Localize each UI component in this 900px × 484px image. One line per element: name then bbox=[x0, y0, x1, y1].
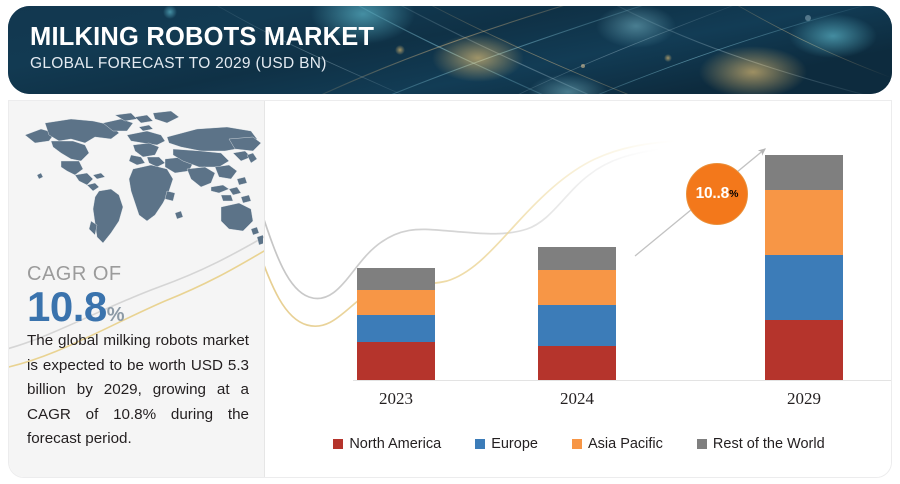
stacked-bar-2023 bbox=[357, 268, 435, 380]
legend-label: Rest of the World bbox=[713, 436, 825, 452]
segment-rest-of-the-world bbox=[538, 247, 616, 270]
summary-panel: CAGR OF 10.8% The global milking robots … bbox=[9, 101, 264, 478]
stacked-bar-2029 bbox=[765, 155, 843, 380]
segment-rest-of-the-world bbox=[765, 155, 843, 190]
x-axis-label-2029: 2029 bbox=[754, 389, 854, 409]
cagr-badge-percent: % bbox=[729, 188, 738, 200]
segment-europe bbox=[538, 305, 616, 346]
chart-legend: North America Europe Asia Pacific Rest o… bbox=[265, 429, 892, 459]
header-banner: MILKING ROBOTS MARKET GLOBAL FORECAST TO… bbox=[8, 6, 892, 94]
content-card: CAGR OF 10.8% The global milking robots … bbox=[8, 100, 892, 478]
cagr-badge-value: 10..8 bbox=[696, 185, 729, 203]
x-axis-label-2023: 2023 bbox=[346, 389, 446, 409]
legend-item-rest-of-the-world[interactable]: Rest of the World bbox=[697, 436, 825, 452]
page-subtitle: GLOBAL FORECAST TO 2029 (USD BN) bbox=[30, 54, 374, 74]
segment-europe bbox=[765, 255, 843, 320]
segment-north-america bbox=[538, 346, 616, 380]
header-text-group: MILKING ROBOTS MARKET GLOBAL FORECAST TO… bbox=[30, 22, 374, 74]
segment-europe bbox=[357, 315, 435, 342]
cagr-label: CAGR OF bbox=[27, 263, 249, 285]
segment-asia-pacific bbox=[765, 190, 843, 255]
infographic-root: MILKING ROBOTS MARKET GLOBAL FORECAST TO… bbox=[0, 0, 900, 484]
world-map bbox=[15, 109, 263, 261]
legend-item-asia-pacific[interactable]: Asia Pacific bbox=[572, 436, 663, 452]
legend-label: North America bbox=[349, 436, 441, 452]
segment-rest-of-the-world bbox=[357, 268, 435, 290]
cagr-highlight: CAGR OF 10.8% bbox=[27, 263, 249, 337]
legend-item-north-america[interactable]: North America bbox=[333, 436, 441, 452]
segment-north-america bbox=[357, 342, 435, 380]
legend-label: Europe bbox=[491, 436, 538, 452]
legend-item-europe[interactable]: Europe bbox=[475, 436, 538, 452]
x-axis-label-2024: 2024 bbox=[527, 389, 627, 409]
legend-swatch-icon bbox=[572, 439, 582, 449]
plot-area: 2.7 2023 3.2 2024 5.3 bbox=[265, 101, 892, 478]
world-map-icon bbox=[15, 109, 263, 261]
legend-label: Asia Pacific bbox=[588, 436, 663, 452]
legend-swatch-icon bbox=[333, 439, 343, 449]
stacked-bar-2024 bbox=[538, 247, 616, 380]
cagr-badge: 10..8% bbox=[686, 163, 748, 225]
cagr-number: 10.8 bbox=[27, 283, 107, 330]
segment-asia-pacific bbox=[357, 290, 435, 315]
segment-north-america bbox=[765, 320, 843, 380]
cagr-percent-sign: % bbox=[107, 304, 124, 326]
chart-container: 2.7 2023 3.2 2024 5.3 bbox=[265, 101, 892, 478]
panel-divider bbox=[264, 101, 265, 478]
legend-swatch-icon bbox=[697, 439, 707, 449]
summary-description: The global milking robots market is expe… bbox=[27, 329, 249, 452]
page-title: MILKING ROBOTS MARKET bbox=[30, 22, 374, 52]
legend-swatch-icon bbox=[475, 439, 485, 449]
segment-asia-pacific bbox=[538, 270, 616, 305]
